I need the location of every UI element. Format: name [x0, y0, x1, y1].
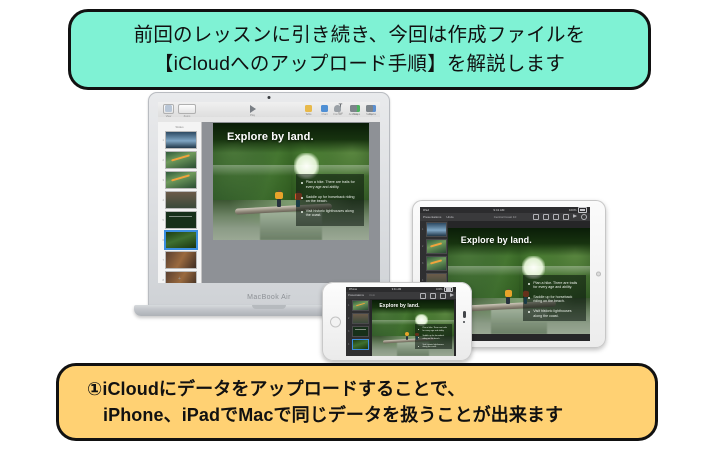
iphone-screen[interactable]: iPhone 9:41 AM 100% Presentations Undo	[346, 287, 456, 356]
toolbar-group-view: View Zoom	[162, 104, 196, 118]
iphone-undo-button[interactable]: Undo	[369, 294, 375, 297]
slide-thumbnail-row[interactable]: 5	[158, 211, 201, 231]
insert-icon[interactable]	[543, 214, 549, 220]
slide-thumbnail-art	[166, 172, 196, 188]
callout-top-line-1: 前回のレッスンに引き続き、今回は作成ファイルを	[134, 21, 586, 49]
macbook-screen: View Zoom Play	[158, 102, 380, 283]
hiker-figure	[405, 332, 409, 340]
slide-thumbnail-row[interactable]: 2	[346, 312, 370, 325]
hiker-figure	[505, 290, 512, 305]
battery-icon	[578, 207, 587, 213]
iphone-nav-bar: Presentations Undo	[346, 292, 456, 299]
slide-thumbnail[interactable]	[165, 231, 197, 249]
iphone-current-slide[interactable]: Explore by land. Plan a hike. There are …	[372, 300, 454, 356]
slide-thumbnail-row[interactable]: 1	[420, 221, 448, 238]
slide-thumbnail-row[interactable]: 4	[346, 338, 370, 351]
slide-thumbnail-art	[166, 192, 196, 208]
callout-bottom-line-2: iPhone、iPadでMacで同じデータを扱うことが出来ます	[103, 402, 563, 428]
slide-thumbnail-art	[353, 301, 368, 310]
slide-thumbnail[interactable]	[426, 239, 447, 254]
slide-number: 3	[348, 330, 351, 333]
iphone-home-button[interactable]	[330, 316, 341, 327]
callout-top: 前回のレッスンに引き続き、今回は作成ファイルを 【iCloudへのアップロード手…	[68, 9, 651, 90]
iphone-thumbnail-list[interactable]: 1234	[346, 299, 370, 351]
slide-bullet-text: Plan a hike. There are trails for every …	[422, 327, 448, 332]
format-button[interactable]: Format	[331, 104, 344, 116]
play-button[interactable]: Play	[246, 104, 259, 117]
slide-thumbnail-list[interactable]: 1234567891011	[158, 131, 201, 283]
slide-thumbnail[interactable]	[165, 251, 197, 269]
slide-thumbnail-row[interactable]: 2	[158, 151, 201, 171]
toolbar-group-inspector: Format Animate Setup	[331, 104, 376, 116]
format-icon[interactable]	[420, 293, 426, 299]
ipad-nav-bar: Presentations Undo Central Coast 10	[420, 213, 590, 221]
slide-thumbnail[interactable]	[352, 313, 369, 324]
slide-thumbnail[interactable]	[352, 300, 369, 311]
slide-thumbnail-row[interactable]: 4	[158, 191, 201, 211]
slide-number: 2	[161, 159, 164, 162]
slide-bullet-text: Saddle up for horseback riding on the be…	[306, 195, 360, 204]
slide-thumbnail-art	[427, 223, 446, 236]
iphone-slide-bullet-box: Plan a hike. There are trails for every …	[415, 324, 451, 349]
insert-icon[interactable]	[430, 293, 436, 299]
callout-bottom: ①iCloudにデータをアップロードすることで、 iPhone、iPadでMac…	[56, 363, 658, 441]
slide-bullet: Saddle up for horseback riding on the be…	[301, 195, 360, 204]
zoom-button[interactable]: Zoom	[178, 104, 196, 118]
slide-canvas[interactable]: Explore by land. Plan a hike. There are …	[202, 122, 380, 283]
slide-thumbnail-row[interactable]: 2	[420, 238, 448, 255]
slide-thumbnail[interactable]	[165, 171, 197, 189]
slide-number: 2	[422, 245, 425, 248]
slide-bullet-text: Visit historic lighthouses along the coa…	[533, 309, 580, 318]
slide-number: 3	[422, 262, 425, 265]
ipad-status-carrier: iPad	[423, 208, 429, 212]
slide-bullet-text: Saddle up for horseback riding on the be…	[422, 335, 448, 340]
ipad-document-title: Central Coast 10	[494, 215, 517, 219]
format-icon[interactable]	[533, 214, 539, 220]
iphone-status-time: 9:41 AM	[392, 288, 402, 291]
hiker-figure	[275, 191, 283, 207]
slide-navigator-header: Slides	[158, 124, 201, 131]
macbook-lid: View Zoom Play	[148, 92, 390, 307]
table-button[interactable]: Table	[302, 104, 315, 116]
slide-bullet: Visit historic lighthouses along the coa…	[301, 209, 360, 218]
slide-thumbnail-art	[166, 152, 196, 168]
slide-bullet-box: Plan a hike. There are trails for every …	[296, 174, 365, 225]
slide-thumbnail-row[interactable]: 1	[158, 131, 201, 151]
animate-button-label: Animate	[349, 113, 359, 116]
ipad-home-button[interactable]	[596, 272, 601, 277]
ipad-slide-title: Explore by land.	[461, 235, 532, 245]
add-slide-button[interactable]: +	[158, 276, 201, 282]
setup-button-label: Setup	[366, 113, 373, 116]
play-icon[interactable]	[450, 293, 454, 297]
slide-number: 1	[348, 304, 351, 307]
slide-bullet-text: Saddle up for horseback riding on the be…	[533, 295, 580, 304]
slide-thumbnail-row[interactable]: 1	[346, 299, 370, 312]
chart-button-label: Chart	[321, 113, 327, 116]
callout-bottom-line-1: ①iCloudにデータをアップロードすることで、	[87, 376, 465, 402]
toolbar-group-play: Play	[246, 104, 259, 117]
slide-thumbnail-art	[427, 257, 446, 270]
iphone-device: iPhone 9:41 AM 100% Presentations Undo	[322, 282, 472, 361]
slide-thumbnail-row[interactable]: 3	[420, 255, 448, 272]
ipad-slide-bullet-box: Plan a hike. There are trails for every …	[523, 275, 585, 322]
iphone-slide-navigator[interactable]: 1234	[346, 299, 370, 356]
slide-thumbnail-row[interactable]: 7	[158, 251, 201, 271]
slide-number: 4	[348, 343, 351, 346]
iphone-back-button[interactable]: Presentations	[348, 294, 364, 297]
slide-title: Explore by land.	[227, 131, 314, 143]
iphone-slide-title: Explore by land.	[379, 303, 419, 309]
animate-button[interactable]: Animate	[347, 104, 360, 116]
slide-number: 5	[161, 219, 164, 222]
keynote-workspace: Slides 1234567891011 +	[158, 122, 380, 283]
slide-thumbnail-row[interactable]: 3	[346, 325, 370, 338]
slide-number: 3	[161, 179, 164, 182]
tools-icon[interactable]	[553, 214, 559, 220]
screenshot-root: 前回のレッスンに引き続き、今回は作成ファイルを 【iCloudへのアップロード手…	[0, 0, 720, 450]
current-slide[interactable]: Explore by land. Plan a hike. There are …	[213, 123, 369, 240]
iphone-slide-canvas[interactable]: Explore by land. Plan a hike. There are …	[370, 299, 456, 356]
keynote-toolbar: View Zoom Play	[158, 102, 380, 118]
slide-number: 6	[161, 239, 164, 242]
front-camera-icon	[463, 321, 465, 323]
slide-bullet: Plan a hike. There are trails for every …	[418, 327, 448, 332]
slide-thumbnail-row[interactable]: 6	[158, 231, 201, 251]
slide-bullet-text: Plan a hike. There are trails for every …	[306, 180, 360, 189]
slide-thumbnail[interactable]	[426, 256, 447, 271]
ipad-status-time: 9:41 AM	[493, 208, 504, 212]
slide-thumbnail[interactable]	[352, 339, 369, 350]
slide-thumbnail-art	[166, 212, 196, 228]
share-icon[interactable]	[563, 214, 569, 220]
slide-thumbnail[interactable]	[426, 222, 447, 237]
slide-bullet: Visit historic lighthouses along the coa…	[418, 344, 448, 349]
slide-thumbnail-art	[166, 252, 196, 268]
facetime-camera-icon	[268, 96, 271, 99]
play-icon[interactable]	[573, 214, 577, 218]
slide-bullet: Plan a hike. There are trails for every …	[301, 180, 360, 189]
slide-bullet-text: Visit historic lighthouses along the coa…	[306, 209, 360, 218]
callout-top-line-2: 【iCloudへのアップロード手順】を解説します	[154, 50, 565, 78]
tools-icon[interactable]	[440, 293, 446, 299]
slide-bullet: Saddle up for horseback riding on the be…	[528, 295, 580, 304]
iphone-keynote-workspace: 1234	[346, 299, 456, 356]
setup-button[interactable]: Setup	[363, 104, 376, 116]
ipad-undo-button[interactable]: Undo	[446, 215, 453, 219]
slide-thumbnail[interactable]	[352, 326, 369, 337]
ipad-status-battery-label: 100%	[569, 208, 577, 212]
view-button[interactable]: View	[162, 104, 175, 118]
slide-number: 4	[161, 199, 164, 202]
slide-thumbnail-art	[166, 132, 196, 148]
slide-thumbnail[interactable]	[165, 131, 197, 149]
slide-thumbnail-art	[427, 240, 446, 253]
slide-bullet: Plan a hike. There are trails for every …	[528, 281, 580, 290]
slide-thumbnail-art	[166, 232, 196, 248]
slide-number: 2	[348, 317, 351, 320]
slide-bullet-text: Plan a hike. There are trails for every …	[533, 281, 580, 290]
slide-number: 1	[161, 139, 164, 142]
slide-thumbnail[interactable]	[165, 211, 197, 229]
slide-navigator[interactable]: Slides 1234567891011 +	[158, 122, 202, 283]
slide-thumbnail[interactable]	[165, 191, 197, 209]
slide-thumbnail-art	[353, 314, 368, 323]
slide-thumbnail-art	[353, 327, 368, 336]
speaker-icon	[463, 311, 466, 318]
device-lineup: View Zoom Play	[0, 92, 720, 364]
slide-bullet-text: Visit historic lighthouses along the coa…	[422, 344, 448, 349]
table-button-label: Table	[305, 113, 311, 116]
help-icon[interactable]	[581, 214, 587, 220]
ipad-back-button[interactable]: Presentations	[423, 215, 441, 219]
macbook-lid-notch	[252, 305, 286, 309]
chart-button[interactable]: Chart	[318, 104, 331, 116]
slide-thumbnail-art	[353, 340, 368, 349]
iphone-status-carrier: iPhone	[349, 288, 357, 291]
slide-bullet: Visit historic lighthouses along the coa…	[528, 309, 580, 318]
slide-number: 1	[422, 228, 425, 231]
slide-bullet: Saddle up for horseback riding on the be…	[418, 335, 448, 340]
iphone-status-battery-label: 100%	[436, 288, 443, 291]
slide-number: 7	[161, 259, 164, 262]
slide-thumbnail[interactable]	[165, 151, 197, 169]
slide-thumbnail-row[interactable]: 3	[158, 171, 201, 191]
format-button-label: Format	[333, 113, 341, 116]
